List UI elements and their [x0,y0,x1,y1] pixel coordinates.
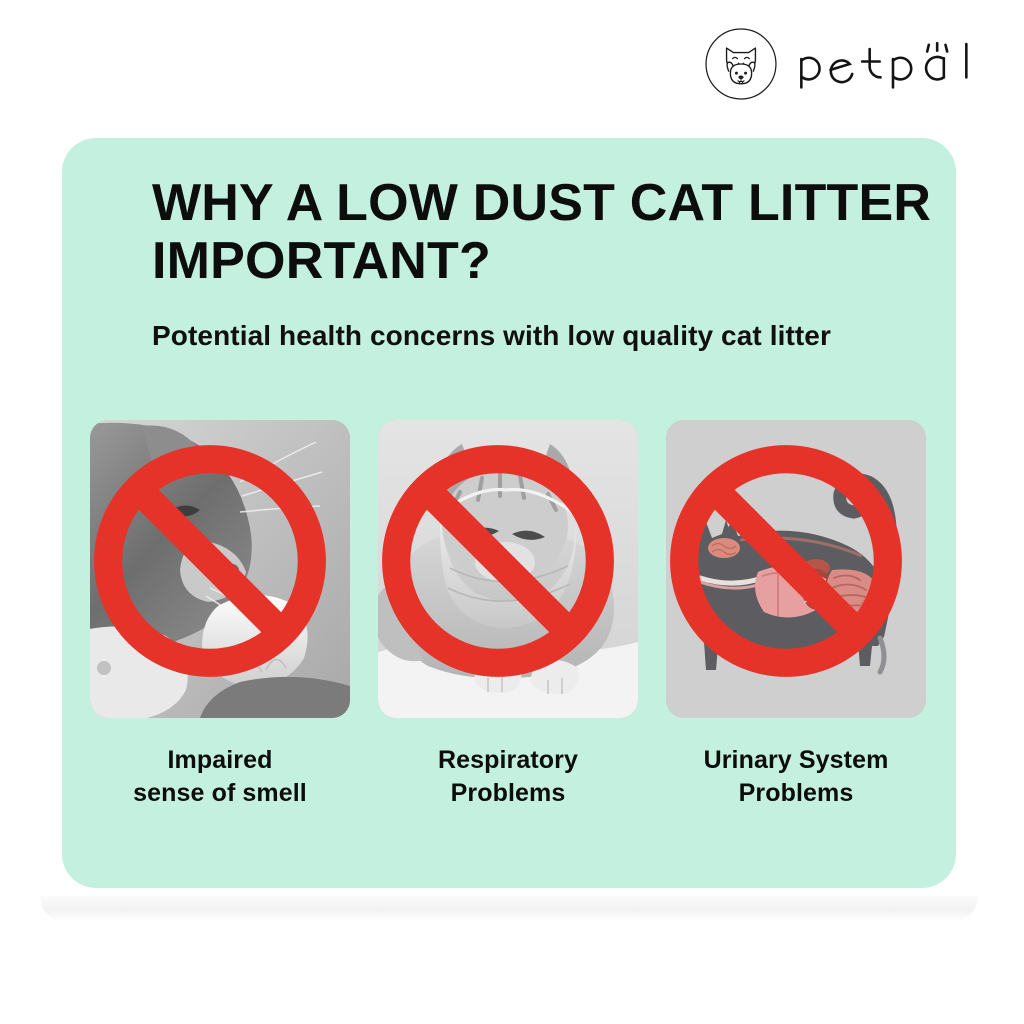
concern-image-smell [90,420,350,718]
cat-dog-circle-icon [703,26,779,102]
brand-wordmark [793,34,986,94]
prohibition-icon [378,420,628,710]
concern-image-urinary [666,420,926,718]
concern-caption-respiratory: Respiratory Problems [438,744,578,810]
stacked-card-edge [40,896,978,922]
concern-item-smell: Impaired sense of smell [90,420,350,810]
prohibition-icon [666,420,916,710]
page-title: WHY A LOW DUST CAT LITTER IMPORTANT? [152,174,992,290]
prohibition-icon [90,420,340,710]
page-subtitle: Potential health concerns with low quali… [152,320,992,352]
concern-caption-smell: Impaired sense of smell [133,744,307,810]
concern-item-urinary: Urinary System Problems [666,420,926,810]
poster-canvas: WHY A LOW DUST CAT LITTER IMPORTANT? Pot… [0,0,1024,1024]
concern-image-respiratory [378,420,638,718]
brand-logo [703,26,986,102]
concern-caption-urinary: Urinary System Problems [704,744,889,810]
concerns-row: Impaired sense of smell [90,420,928,810]
info-card: WHY A LOW DUST CAT LITTER IMPORTANT? Pot… [62,138,956,888]
concern-item-respiratory: Respiratory Problems [378,420,638,810]
